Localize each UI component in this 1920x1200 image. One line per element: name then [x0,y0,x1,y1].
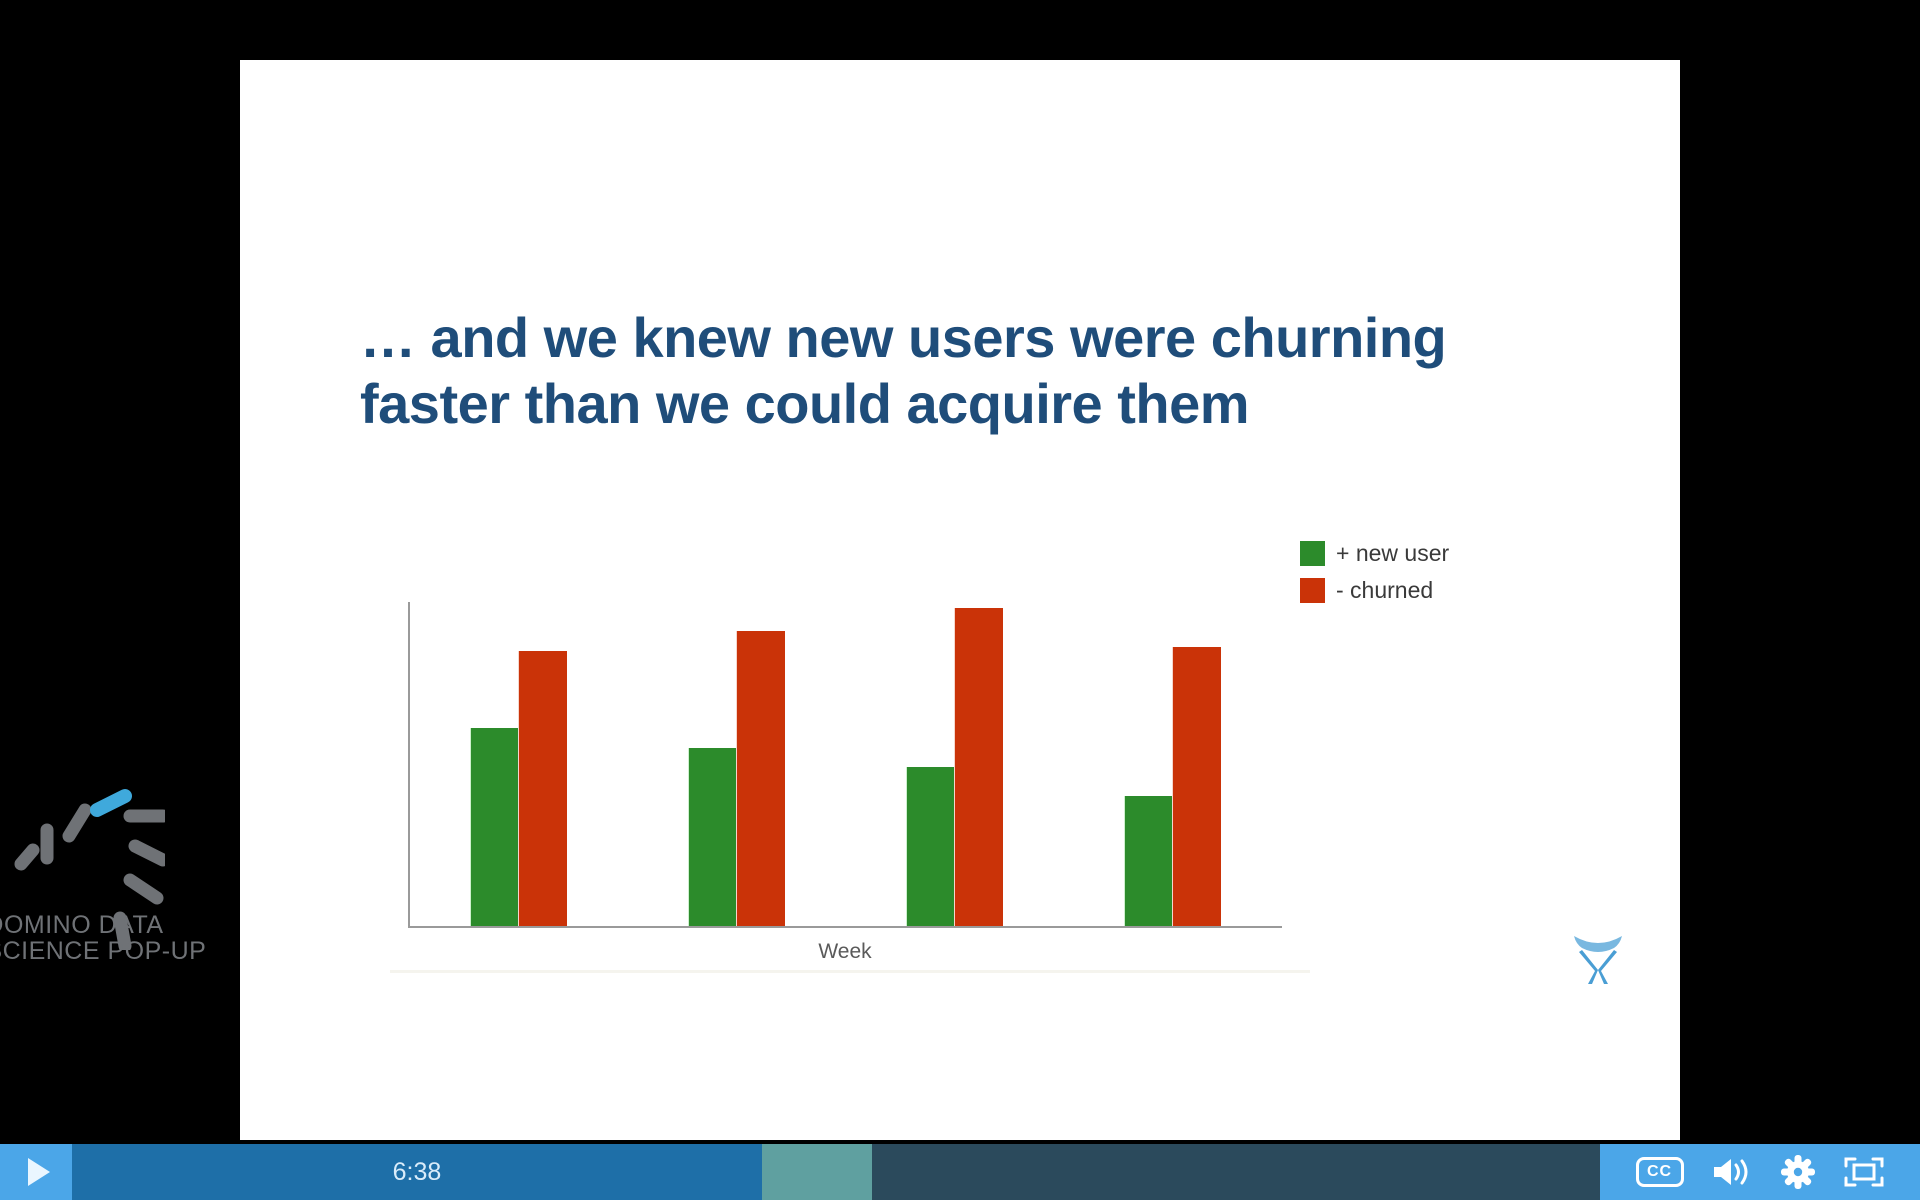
current-time-label: 6:38 [72,1144,762,1200]
x-axis-line [408,926,1282,928]
fullscreen-button[interactable] [1843,1155,1885,1189]
x-axis-underline-rule [390,970,1310,973]
x-axis-label: Week [408,940,1282,964]
cc-icon: CC [1636,1157,1684,1187]
bar-churned-week-1 [519,651,567,926]
play-button[interactable] [0,1144,72,1200]
event-logo-tagline-line1: DOMINO DATA [0,912,206,938]
play-icon [28,1158,50,1186]
event-logo-tagline: DOMINO DATA SCIENCE POP-UP [0,912,206,964]
bar-group-week-1 [410,602,628,926]
bar-new-user-week-2 [689,748,737,926]
bar-chart: Week + new user - churned [400,540,1520,960]
player-right-controls: CC [1600,1144,1920,1200]
bar-group-week-3 [846,602,1064,926]
bar-new-user-week-4 [1125,796,1173,926]
legend-item-churned: - churned [1300,577,1510,604]
captions-button[interactable]: CC [1636,1157,1684,1187]
settings-button[interactable] [1780,1154,1816,1190]
x-logo-watermark-icon [1568,930,1628,988]
bar-new-user-week-3 [907,767,955,926]
legend-swatch-new-user [1300,541,1325,566]
presentation-slide: … and we knew new users were churning fa… [240,60,1680,1140]
fullscreen-icon [1843,1155,1885,1189]
gear-icon [1780,1154,1816,1190]
progress-buffered [762,1144,872,1200]
bar-churned-week-3 [955,608,1003,926]
event-logo-tagline-line2: SCIENCE POP-UP [0,938,206,964]
legend-item-new-user: + new user [1300,540,1510,567]
slide-title: … and we knew new users were churning fa… [360,305,1590,437]
bar-new-user-week-1 [471,728,519,926]
bar-group-week-4 [1064,602,1282,926]
volume-button[interactable] [1711,1155,1753,1189]
bar-churned-week-2 [737,631,785,926]
legend-label-new-user: + new user [1336,540,1449,567]
bar-group-week-2 [628,602,846,926]
bar-groups [410,602,1282,926]
chart-plot-area [408,602,1282,928]
chart-legend: + new user - churned [1300,540,1510,614]
volume-icon [1711,1155,1753,1189]
legend-label-churned: - churned [1336,577,1433,604]
bar-churned-week-4 [1173,647,1221,926]
legend-swatch-churned [1300,578,1325,603]
progress-scrubber[interactable]: 6:38 [72,1144,1600,1200]
event-logo-wordmark: SF|17 DOMINO DATA SCIENCE POP-UP [0,908,206,964]
video-player-stage: … and we knew new users were churning fa… [0,0,1920,1200]
player-control-bar: 6:38 CC [0,1144,1920,1200]
event-logo: SF|17 DOMINO DATA SCIENCE POP-UP [0,780,235,980]
